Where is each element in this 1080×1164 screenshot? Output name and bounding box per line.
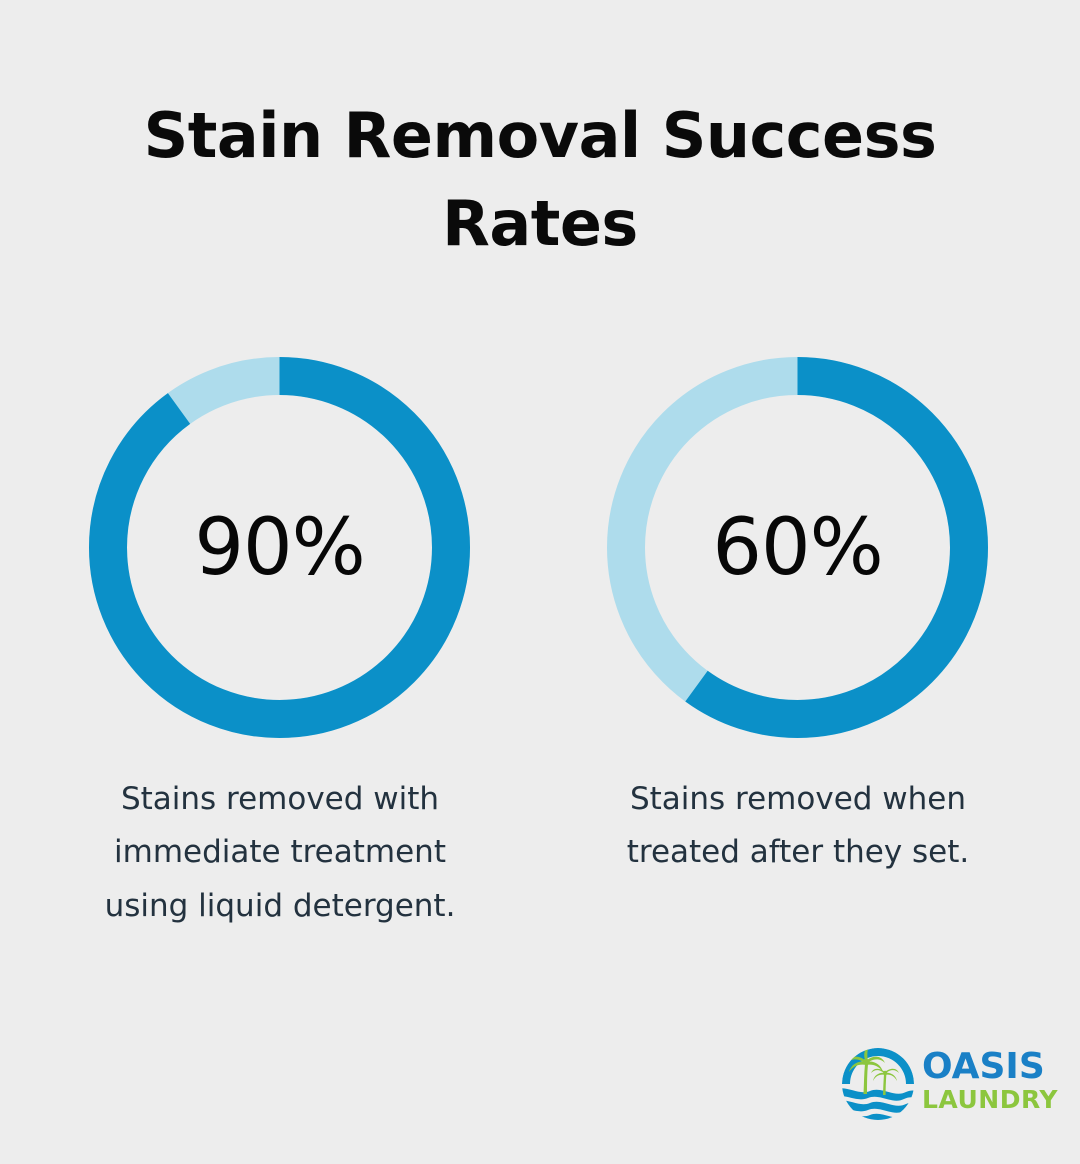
captions-row: Stains removed with immediate treatment … bbox=[0, 773, 1080, 953]
donut-chart-immediate-treatment: 90% bbox=[89, 357, 470, 738]
logo-wordmark: OASIS LAUNDRY bbox=[922, 1048, 1034, 1122]
donut-caption-2-line-2: treated after they set. bbox=[627, 834, 970, 870]
logo-text-laundry: LAUNDRY bbox=[922, 1086, 1034, 1114]
brand-logo: OASIS LAUNDRY bbox=[838, 1040, 1034, 1132]
donut-caption-1-line-2: immediate treatment bbox=[114, 834, 446, 870]
donut-chart-treated-after-set: 60% bbox=[607, 357, 988, 738]
donut-charts-row: 90% 60% bbox=[0, 357, 1080, 757]
donut-caption-2: Stains removed when treated after they s… bbox=[583, 773, 1013, 880]
donut-caption-1-line-1: Stains removed with bbox=[121, 781, 439, 817]
donut-caption-1-line-3: using liquid detergent. bbox=[105, 888, 456, 924]
page-title-line-2: Rates bbox=[0, 180, 1080, 268]
donut-caption-1: Stains removed with immediate treatment … bbox=[65, 773, 495, 933]
infographic-canvas: Stain Removal Success Rates 90% 60% Stai… bbox=[0, 0, 1080, 1164]
donut-value-label-1: 90% bbox=[89, 357, 470, 738]
page-title: Stain Removal Success Rates bbox=[0, 92, 1080, 268]
page-title-line-1: Stain Removal Success bbox=[0, 92, 1080, 180]
palm-tree-waves-circle-icon bbox=[838, 1044, 918, 1124]
donut-caption-2-line-1: Stains removed when bbox=[630, 781, 966, 817]
donut-value-label-2: 60% bbox=[607, 357, 988, 738]
logo-text-oasis: OASIS bbox=[922, 1048, 1034, 1086]
